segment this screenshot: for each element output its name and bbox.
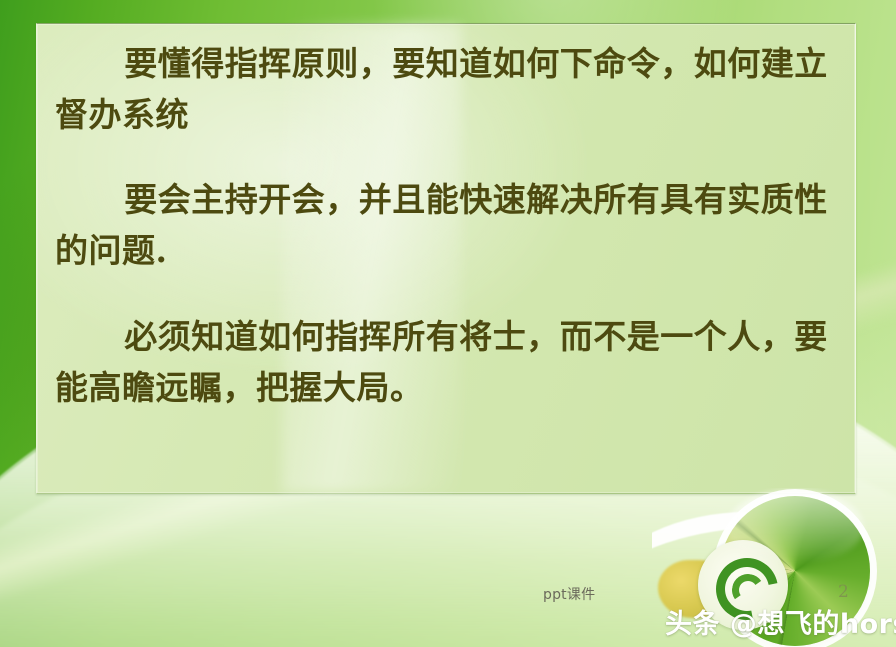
ppt-credit-label: ppt课件 xyxy=(543,584,595,604)
paragraph-3: 必须知道如何指挥所有将士，而不是一个人，要能高瞻远瞩，把握大局。 xyxy=(55,311,841,413)
paragraph-1: 要懂得指挥原则，要知道如何下命令，如何建立督办系统 xyxy=(55,38,841,140)
paragraph-2: 要会主持开会，并且能快速解决所有具有实质性的问题. xyxy=(55,174,841,276)
content-panel: 要懂得指挥原则，要知道如何下命令，如何建立督办系统 要会主持开会，并且能快速解决… xyxy=(36,23,856,494)
ornament-highlight xyxy=(726,490,864,564)
watermark-label: 头条 @想飞的horse xyxy=(665,602,896,641)
page-number: 2 xyxy=(838,582,849,602)
presentation-slide: 要懂得指挥原则，要知道如何下命令，如何建立督办系统 要会主持开会，并且能快速解决… xyxy=(0,0,896,647)
slide-body-text: 要懂得指挥原则，要知道如何下命令，如何建立督办系统 要会主持开会，并且能快速解决… xyxy=(55,38,841,413)
